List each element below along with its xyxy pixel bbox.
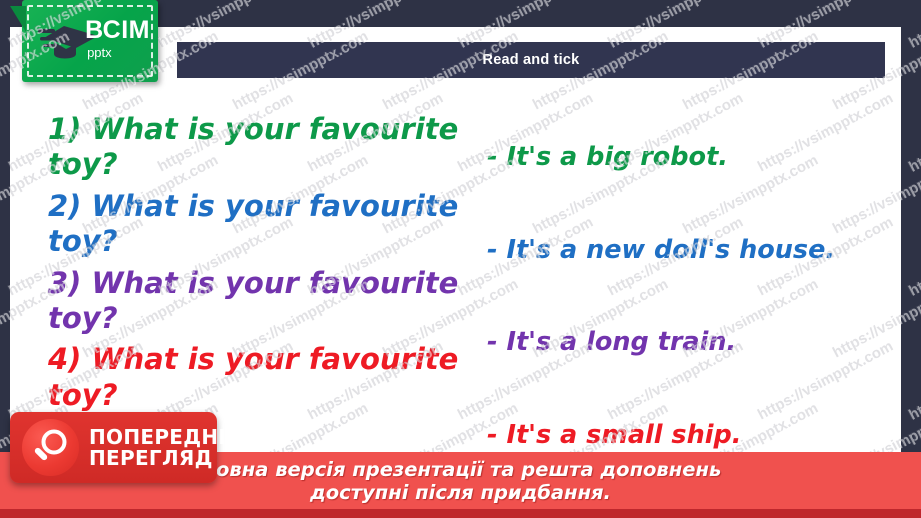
purchase-banner-line2: доступні після придбання. [310, 481, 611, 504]
logo-brand-main: ВСІМ [85, 18, 150, 43]
banner-bottom-strip [0, 509, 921, 518]
vsimpptx-logo: ВСІМ pptx [22, 0, 158, 82]
presentation-slide: Read and tick ВСІМ pptx 1) What is your … [0, 0, 921, 518]
slide-header-bar: Read and tick [177, 42, 885, 78]
answer-item: - It's a long train. [487, 327, 907, 358]
answers-column: - It's a big robot. - It's a new doll's … [487, 142, 907, 450]
question-item: 3) What is your favourite toy? [48, 266, 468, 337]
logo-brand-sub: pptx [87, 46, 150, 59]
question-item: 2) What is your favourite toy? [48, 189, 468, 260]
answer-item: - It's a big robot. [487, 142, 907, 173]
answer-item: - It's a small ship. [487, 420, 907, 451]
logo-brand: ВСІМ pptx [85, 18, 150, 59]
preview-badge: ПОПЕРЕДНІЙ ПЕРЕГЛЯД [10, 412, 217, 483]
page-title: Read and tick [483, 52, 580, 68]
preview-badge-text: ПОПЕРЕДНІЙ ПЕРЕГЛЯД [89, 427, 243, 468]
preview-badge-line1: ПОПЕРЕДНІЙ [89, 427, 243, 447]
magnifier-icon [22, 419, 79, 476]
question-item: 1) What is your favourite toy? [48, 112, 468, 183]
answer-item: - It's a new doll's house. [487, 235, 907, 266]
preview-badge-line2: ПЕРЕГЛЯД [89, 448, 243, 468]
left-dark-band [0, 0, 10, 518]
question-item: 4) What is your favourite toy? [48, 342, 468, 413]
purchase-banner-line1: Повна версія презентації та решта доповн… [200, 458, 722, 481]
questions-column: 1) What is your favourite toy? 2) What i… [48, 112, 468, 419]
